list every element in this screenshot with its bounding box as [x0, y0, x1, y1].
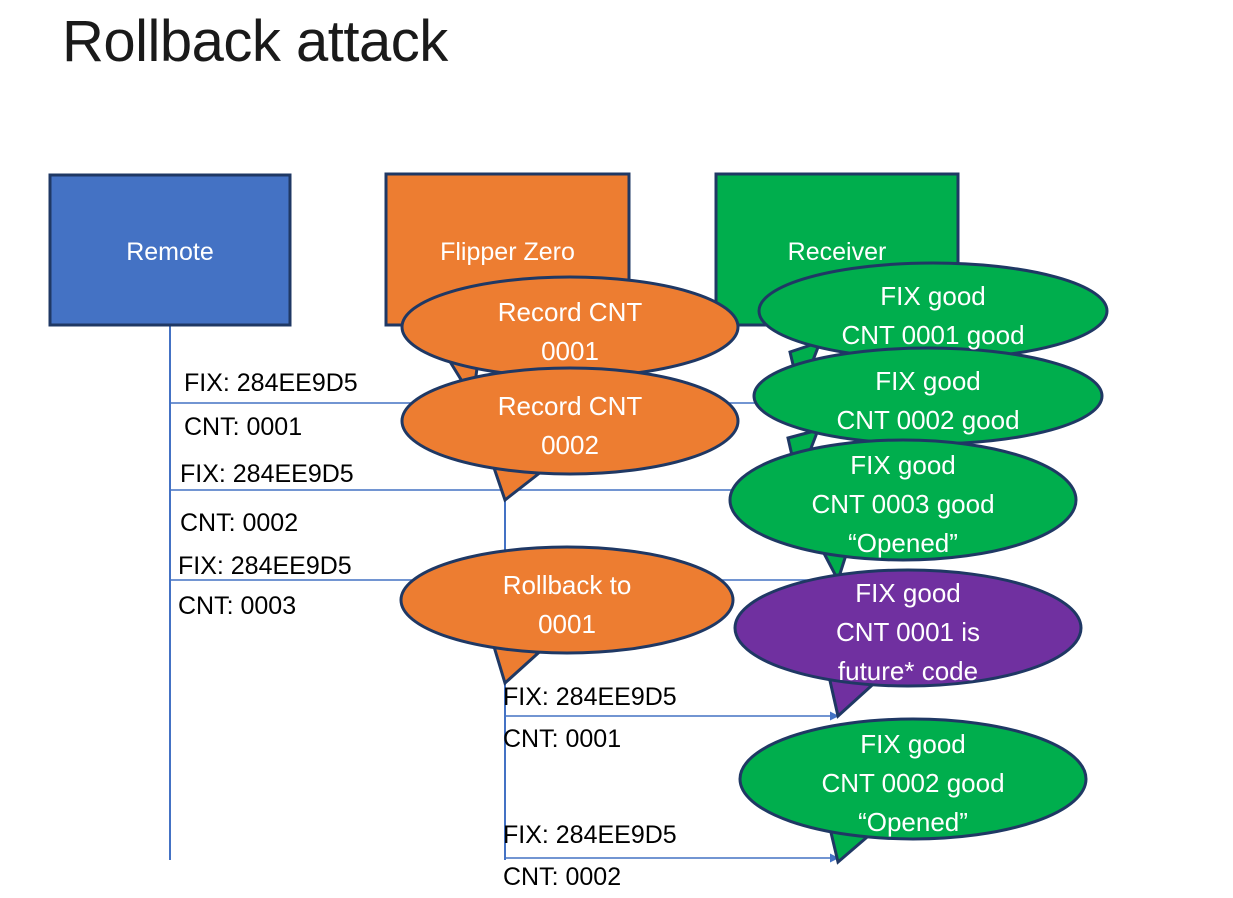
- lane-label-flipper: Flipper Zero: [386, 238, 629, 267]
- callout-flipper-3[interactable]: [401, 547, 733, 683]
- msg-label-m5-fix: FIX: 284EE9D5: [503, 821, 677, 850]
- callout-receiver-4[interactable]: [735, 570, 1081, 716]
- lane-label-receiver: Receiver: [716, 238, 958, 267]
- msg-label-m3-cnt: CNT: 0003: [178, 592, 296, 621]
- msg-label-m5-cnt: CNT: 0002: [503, 863, 621, 892]
- slide-canvas: Rollback attack: [0, 0, 1233, 898]
- callout-flipper-2[interactable]: [402, 368, 738, 500]
- callout-receiver-5[interactable]: [740, 719, 1086, 862]
- diagram-svg: [0, 0, 1233, 898]
- msg-label-m3-fix: FIX: 284EE9D5: [178, 552, 352, 581]
- msg-label-m2-fix: FIX: 284EE9D5: [180, 460, 354, 489]
- lane-label-remote: Remote: [50, 238, 290, 267]
- msg-label-m1-cnt: CNT: 0001: [184, 413, 302, 442]
- msg-label-m2-cnt: CNT: 0002: [180, 509, 298, 538]
- callout-receiver-3[interactable]: [730, 440, 1076, 580]
- msg-label-m4-fix: FIX: 284EE9D5: [503, 683, 677, 712]
- msg-label-m4-cnt: CNT: 0001: [503, 725, 621, 754]
- msg-label-m1-fix: FIX: 284EE9D5: [184, 369, 358, 398]
